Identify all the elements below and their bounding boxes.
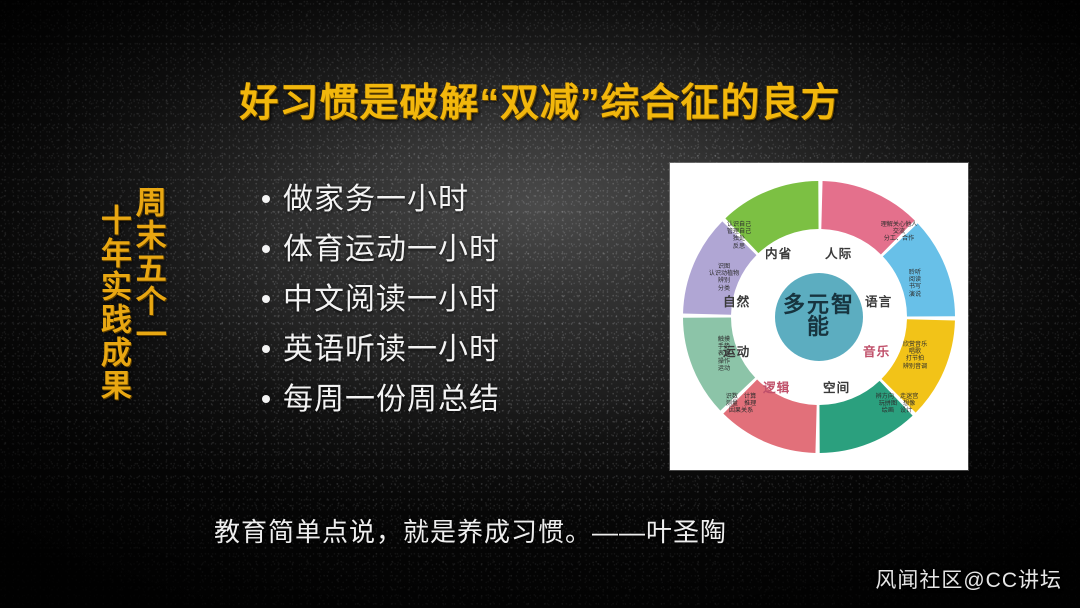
watermark-label: 风闻社区@CC讲坛	[875, 564, 1062, 594]
list-item: 中文阅读一小时	[262, 285, 500, 315]
bullet-label: 英语听读一小时	[283, 335, 500, 365]
vertical-side-text-group: 周末五个一 十年实践成果	[96, 182, 164, 402]
bullet-dot-icon	[262, 395, 270, 403]
bullet-label: 做家务一小时	[283, 185, 469, 215]
quotation-text: 教育简单点说，就是养成习惯。——叶圣陶	[214, 512, 727, 549]
bullet-dot-icon	[262, 295, 270, 303]
ring-label-spatial: 空间	[823, 377, 850, 396]
ring-label-musical: 音乐	[863, 341, 890, 360]
bullet-dot-icon	[262, 195, 270, 203]
bullet-list: 做家务一小时 体育运动一小时 中文阅读一小时 英语听读一小时 每周一份周总结	[262, 185, 500, 435]
ring-label-naturalist: 自然	[723, 291, 750, 310]
bullet-dot-icon	[262, 345, 270, 353]
wheel-graphic: 认识自己管理自己独处反思 理解关心他人交流分工、合作 聆听阅读书写演说 欣赏音乐…	[683, 181, 955, 453]
list-item: 英语听读一小时	[262, 335, 500, 365]
wheel-center-label: 多元智能	[776, 294, 862, 340]
list-item: 做家务一小时	[262, 185, 500, 215]
bullet-label: 每周一份周总结	[283, 385, 500, 415]
ring-label-interpersonal: 人际	[825, 243, 852, 262]
multiple-intelligences-diagram: 认识自己管理自己独处反思 理解关心他人交流分工、合作 聆听阅读书写演说 欣赏音乐…	[670, 163, 968, 470]
bullet-label: 中文阅读一小时	[283, 285, 500, 315]
side-text-weekend-five: 周末五个一	[131, 182, 164, 351]
presentation-slide: 好习惯是破解“双减”综合征的良方 周末五个一 十年实践成果 做家务一小时 体育运…	[0, 0, 1080, 608]
bullet-dot-icon	[262, 245, 270, 253]
ring-label-bodily: 运动	[723, 341, 750, 360]
bullet-label: 体育运动一小时	[283, 235, 500, 265]
ring-label-intrapersonal: 内省	[765, 243, 792, 262]
list-item: 体育运动一小时	[262, 235, 500, 265]
ring-label-linguistic: 语言	[865, 291, 892, 310]
slide-title: 好习惯是破解“双减”综合征的良方	[0, 72, 1080, 128]
side-text-ten-years: 十年实践成果	[96, 182, 129, 402]
list-item: 每周一份周总结	[262, 385, 500, 415]
ring-label-logical: 逻辑	[763, 377, 790, 396]
